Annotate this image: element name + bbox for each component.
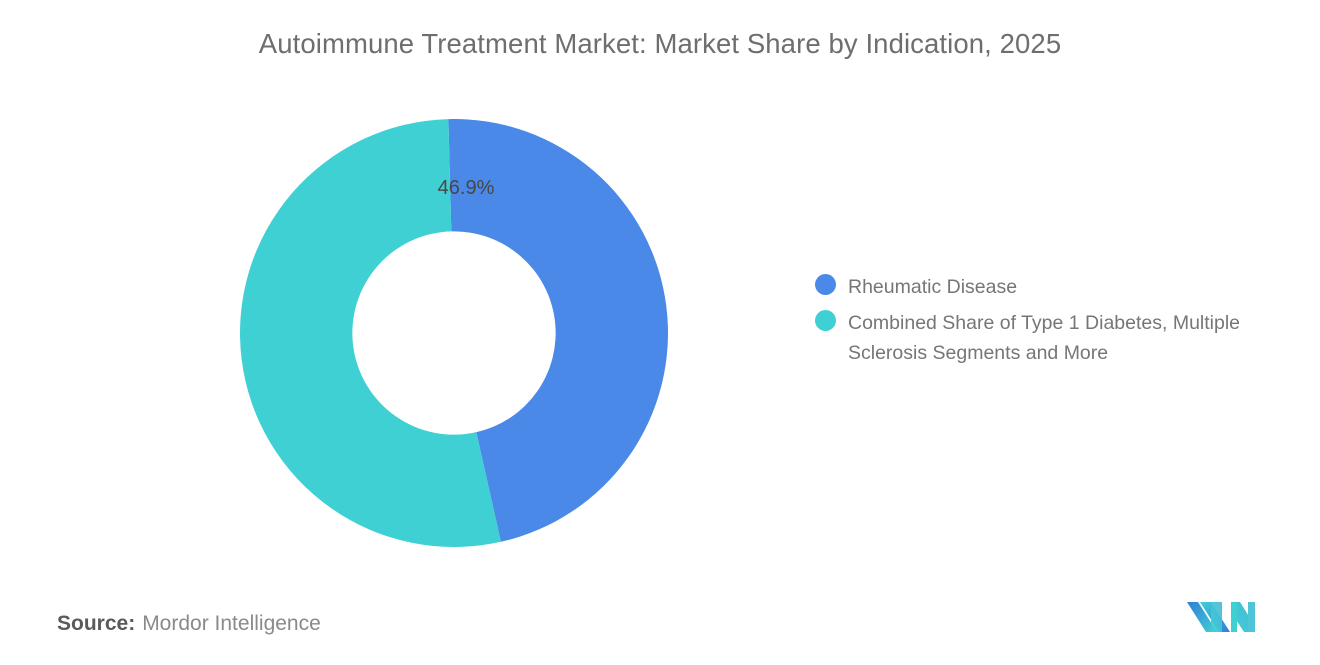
source-label: Source: — [57, 612, 135, 635]
legend-item-combined-share[interactable]: Combined Share of Type 1 Diabetes, Multi… — [815, 308, 1275, 368]
legend-circle-icon — [815, 310, 836, 331]
donut-chart — [239, 118, 669, 548]
legend-item-label: Rheumatic Disease — [848, 272, 1017, 302]
chart-legend: Rheumatic Disease Combined Share of Type… — [815, 272, 1275, 374]
chart-title: Autoimmune Treatment Market: Market Shar… — [0, 28, 1320, 60]
donut-chart-svg — [239, 118, 669, 548]
mordor-intelligence-logo — [1186, 596, 1256, 634]
legend-item-label: Combined Share of Type 1 Diabetes, Multi… — [848, 308, 1248, 368]
source-line: Source:Mordor Intelligence — [57, 612, 321, 636]
legend-item-rheumatic-disease[interactable]: Rheumatic Disease — [815, 272, 1275, 302]
donut-slice-group — [240, 119, 668, 547]
legend-circle-icon — [815, 274, 836, 295]
source-value: Mordor Intelligence — [142, 612, 321, 635]
